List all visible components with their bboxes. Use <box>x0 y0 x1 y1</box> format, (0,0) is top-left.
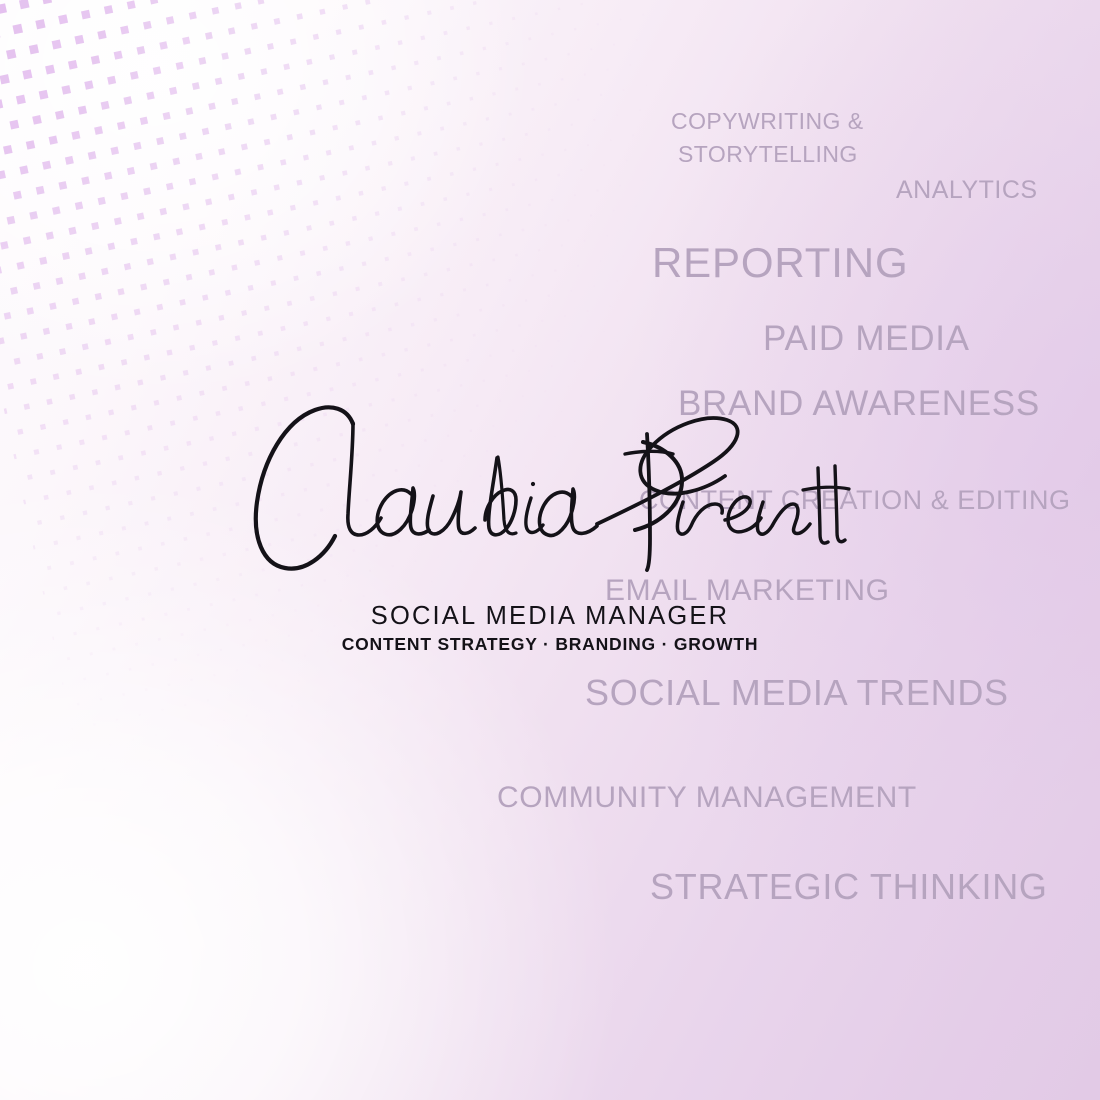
tagline: CONTENT STRATEGY · BRANDING · GROWTH <box>0 634 1100 655</box>
keyword-copywriting: COPYWRITING & <box>671 108 864 135</box>
keyword-community-management: COMMUNITY MANAGEMENT <box>497 780 917 815</box>
role-title: SOCIAL MEDIA MANAGER <box>0 602 1100 631</box>
keyword-strategic-thinking: STRATEGIC THINKING <box>650 866 1048 908</box>
tagline-text: CONTENT STRATEGY · BRANDING · GROWTH <box>342 634 759 655</box>
keyword-paid-media: PAID MEDIA <box>763 318 970 359</box>
keyword-social-media-trends: SOCIAL MEDIA TRENDS <box>585 672 1009 714</box>
signature-claudia-prentt <box>235 398 855 578</box>
keyword-reporting: REPORTING <box>652 238 908 288</box>
keyword-analytics: ANALYTICS <box>896 176 1038 206</box>
business-card-canvas: COPYWRITING &STORYTELLINGANALYTICSREPORT… <box>0 0 1100 1100</box>
keyword-storytelling: STORYTELLING <box>678 141 858 168</box>
